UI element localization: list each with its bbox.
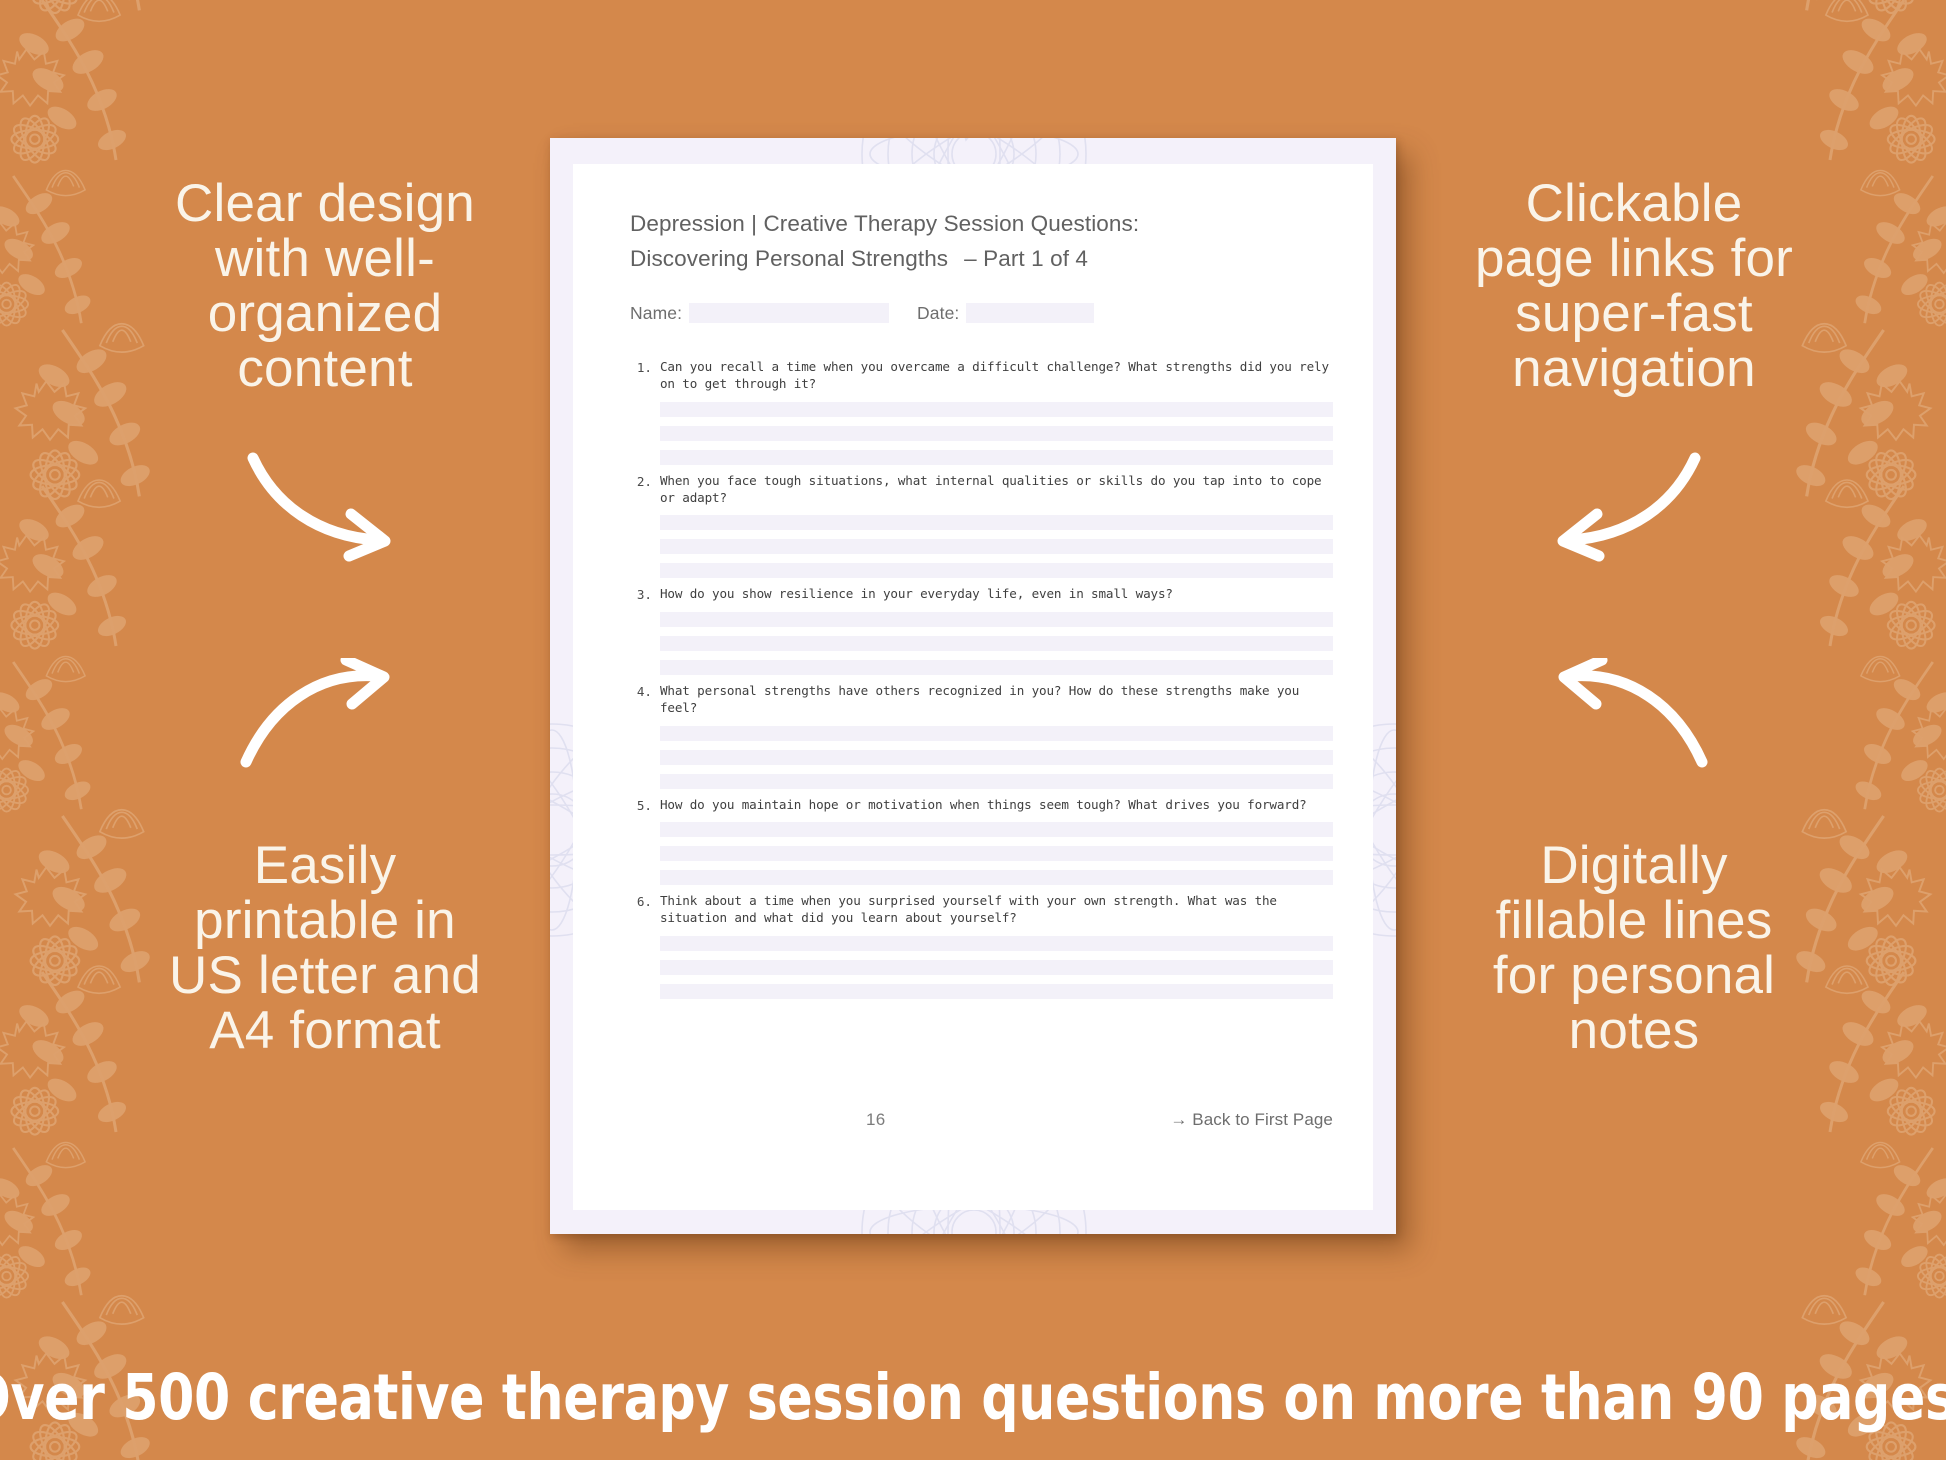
answer-line[interactable] [660, 846, 1333, 861]
answer-line[interactable] [660, 660, 1333, 675]
question-text: Can you recall a time when you overcame … [660, 358, 1333, 393]
worksheet-title: Depression | Creative Therapy Session Qu… [630, 208, 1333, 240]
question-body: How do you show resilience in your every… [652, 585, 1333, 674]
answer-lines [660, 402, 1333, 465]
question-body: Can you recall a time when you overcame … [652, 358, 1333, 465]
question-item: 2.When you face tough situations, what i… [630, 472, 1333, 579]
answer-lines [660, 822, 1333, 885]
question-item: 1.Can you recall a time when you overcam… [630, 358, 1333, 465]
promo-text-clear-design: Clear design with well- organized conten… [130, 176, 520, 396]
question-number: 4. [630, 682, 652, 789]
date-input[interactable] [966, 303, 1094, 323]
answer-line[interactable] [660, 726, 1333, 741]
bottom-banner: Over 500 creative therapy session questi… [0, 1334, 1946, 1460]
answer-lines [660, 515, 1333, 578]
question-number: 5. [630, 796, 652, 885]
answer-line[interactable] [660, 936, 1333, 951]
answer-line[interactable] [660, 563, 1333, 578]
curved-arrow-up-left-icon [1543, 658, 1708, 768]
answer-lines [660, 726, 1333, 789]
worksheet-subtitle: Discovering Personal Strengths– Part 1 o… [630, 243, 1333, 275]
question-number: 3. [630, 585, 652, 674]
question-text: How do you show resilience in your every… [660, 585, 1333, 602]
answer-line[interactable] [660, 515, 1333, 530]
answer-lines [660, 936, 1333, 999]
question-text: How do you maintain hope or motivation w… [660, 796, 1333, 813]
question-body: Think about a time when you surprised yo… [652, 892, 1333, 999]
bottom-banner-text: Over 500 creative therapy session questi… [0, 1361, 1946, 1434]
curved-arrow-down-left-icon [1543, 452, 1703, 562]
question-number: 1. [630, 358, 652, 465]
question-text: What personal strengths have others reco… [660, 682, 1333, 717]
promo-text-clickable-links: Clickable page links for super-fast navi… [1434, 176, 1834, 396]
answer-line[interactable] [660, 960, 1333, 975]
question-number: 6. [630, 892, 652, 999]
answer-line[interactable] [660, 426, 1333, 441]
question-item: 5.How do you maintain hope or motivation… [630, 796, 1333, 885]
curved-arrow-up-right-icon [240, 658, 405, 768]
worksheet-footer: 16 → Back to First Page [630, 1110, 1333, 1130]
worksheet-page[interactable]: Depression | Creative Therapy Session Qu… [550, 138, 1396, 1234]
question-body: What personal strengths have others reco… [652, 682, 1333, 789]
answer-line[interactable] [660, 612, 1333, 627]
answer-line[interactable] [660, 750, 1333, 765]
date-label: Date: [917, 303, 959, 324]
promo-text-printable: Easily printable in US letter and A4 for… [130, 838, 520, 1058]
question-text: Think about a time when you surprised yo… [660, 892, 1333, 927]
answer-line[interactable] [660, 402, 1333, 417]
curved-arrow-down-right-icon [245, 452, 405, 562]
question-body: When you face tough situations, what int… [652, 472, 1333, 579]
worksheet-subtitle-text: Discovering Personal Strengths [630, 246, 948, 271]
worksheet-sheet: Depression | Creative Therapy Session Qu… [573, 164, 1373, 1210]
answer-line[interactable] [660, 870, 1333, 885]
question-list: 1.Can you recall a time when you overcam… [630, 358, 1333, 999]
question-item: 4.What personal strengths have others re… [630, 682, 1333, 789]
question-body: How do you maintain hope or motivation w… [652, 796, 1333, 885]
answer-line[interactable] [660, 822, 1333, 837]
back-to-first-page-link[interactable]: → Back to First Page [1170, 1110, 1333, 1130]
promo-text-fillable-lines: Digitally fillable lines for personal no… [1434, 838, 1834, 1058]
answer-line[interactable] [660, 450, 1333, 465]
answer-line[interactable] [660, 539, 1333, 554]
question-text: When you face tough situations, what int… [660, 472, 1333, 507]
question-number: 2. [630, 472, 652, 579]
worksheet-part-label: – Part 1 of 4 [964, 246, 1088, 271]
name-label: Name: [630, 303, 682, 324]
answer-line[interactable] [660, 774, 1333, 789]
answer-line[interactable] [660, 984, 1333, 999]
question-item: 6.Think about a time when you surprised … [630, 892, 1333, 999]
page-number: 16 [866, 1110, 886, 1130]
name-input[interactable] [689, 303, 889, 323]
name-date-row: Name: Date: [630, 303, 1333, 324]
answer-line[interactable] [660, 636, 1333, 651]
question-item: 3.How do you show resilience in your eve… [630, 585, 1333, 674]
promo-graphic: Clear design with well- organized conten… [0, 0, 1946, 1460]
answer-lines [660, 612, 1333, 675]
